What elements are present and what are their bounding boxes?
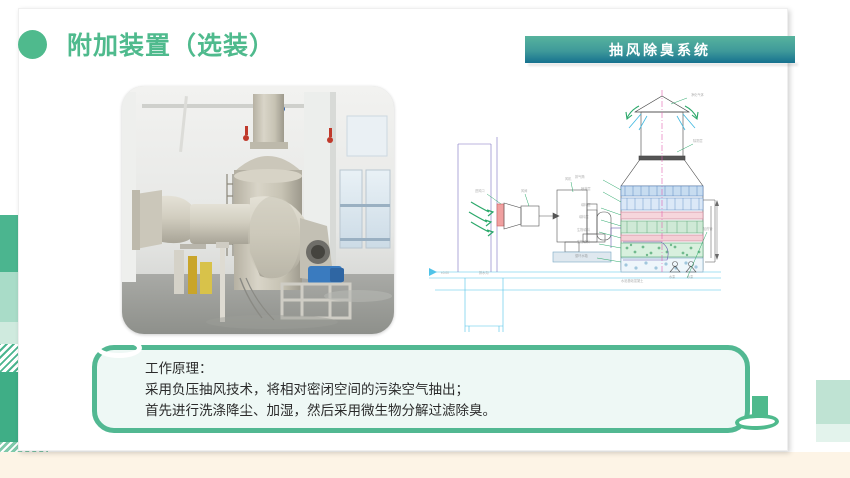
svg-text:生物填料: 生物填料 [577,239,591,244]
svg-text:水泥基础混凝土: 水泥基础混凝土 [621,278,644,283]
svg-text:填料层: 填料层 [581,202,591,207]
svg-text:水泵: 水泵 [669,274,676,279]
svg-text:排水沟: 排水沟 [479,270,489,275]
system-cad-diagram: 排气筒 净化气体 除雾层 喷淋层 填料层 填料层 生物填料 生物填料 循环水箱 … [425,82,725,332]
decor-ring-top-left [96,338,142,358]
equipment-photo-illustration [122,86,394,334]
decor-band-right-1 [816,380,850,424]
page-title-row: 附加装置（选装） [18,26,275,62]
description-line-1: 工作原理： [145,359,745,380]
section-banner-label: 抽风除臭系统 [609,40,711,60]
banner-shadow [528,63,798,66]
description-line-3: 首先进行洗涤降尘、加湿，然后采用微生物分解过滤除臭。 [145,401,745,422]
svg-text:水泵: 水泵 [687,274,694,279]
system-cad-illustration: 排气筒 净化气体 除雾层 喷淋层 填料层 填料层 生物填料 生物填料 循环水箱 … [425,82,725,332]
svg-text:风阀: 风阀 [521,188,527,193]
page-title: 附加装置（选装） [67,26,275,62]
svg-text:除雾层: 除雾层 [693,138,703,143]
svg-text:加药管: 加药管 [703,226,713,231]
svg-text:±0.00: ±0.00 [441,271,449,275]
svg-text:循环水箱: 循环水箱 [575,253,589,258]
description-box: 工作原理： 采用负压抽风技术，将相对密闭空间的污染空气抽出； 首先进行洗涤降尘、… [92,345,750,433]
svg-text:风机: 风机 [565,176,572,181]
svg-text:净化气体: 净化气体 [691,92,705,97]
equipment-photo [122,86,394,334]
decor-band-right-2 [816,424,850,442]
circle-bullet-icon [18,30,47,59]
description-line-2: 采用负压抽风技术，将相对密闭空间的污染空气抽出； [145,380,745,401]
svg-text:进风口: 进风口 [475,188,485,193]
svg-text:喷淋层: 喷淋层 [581,186,591,191]
svg-text:生物填料: 生物填料 [577,227,591,232]
section-banner: 抽风除臭系统 [525,36,795,63]
svg-text:填料层: 填料层 [579,214,589,219]
svg-text:排气筒: 排气筒 [575,174,585,179]
slide-canvas: 附加装置（选装） 抽风除臭系统 [0,0,850,478]
decor-bottom-strip [0,452,850,478]
